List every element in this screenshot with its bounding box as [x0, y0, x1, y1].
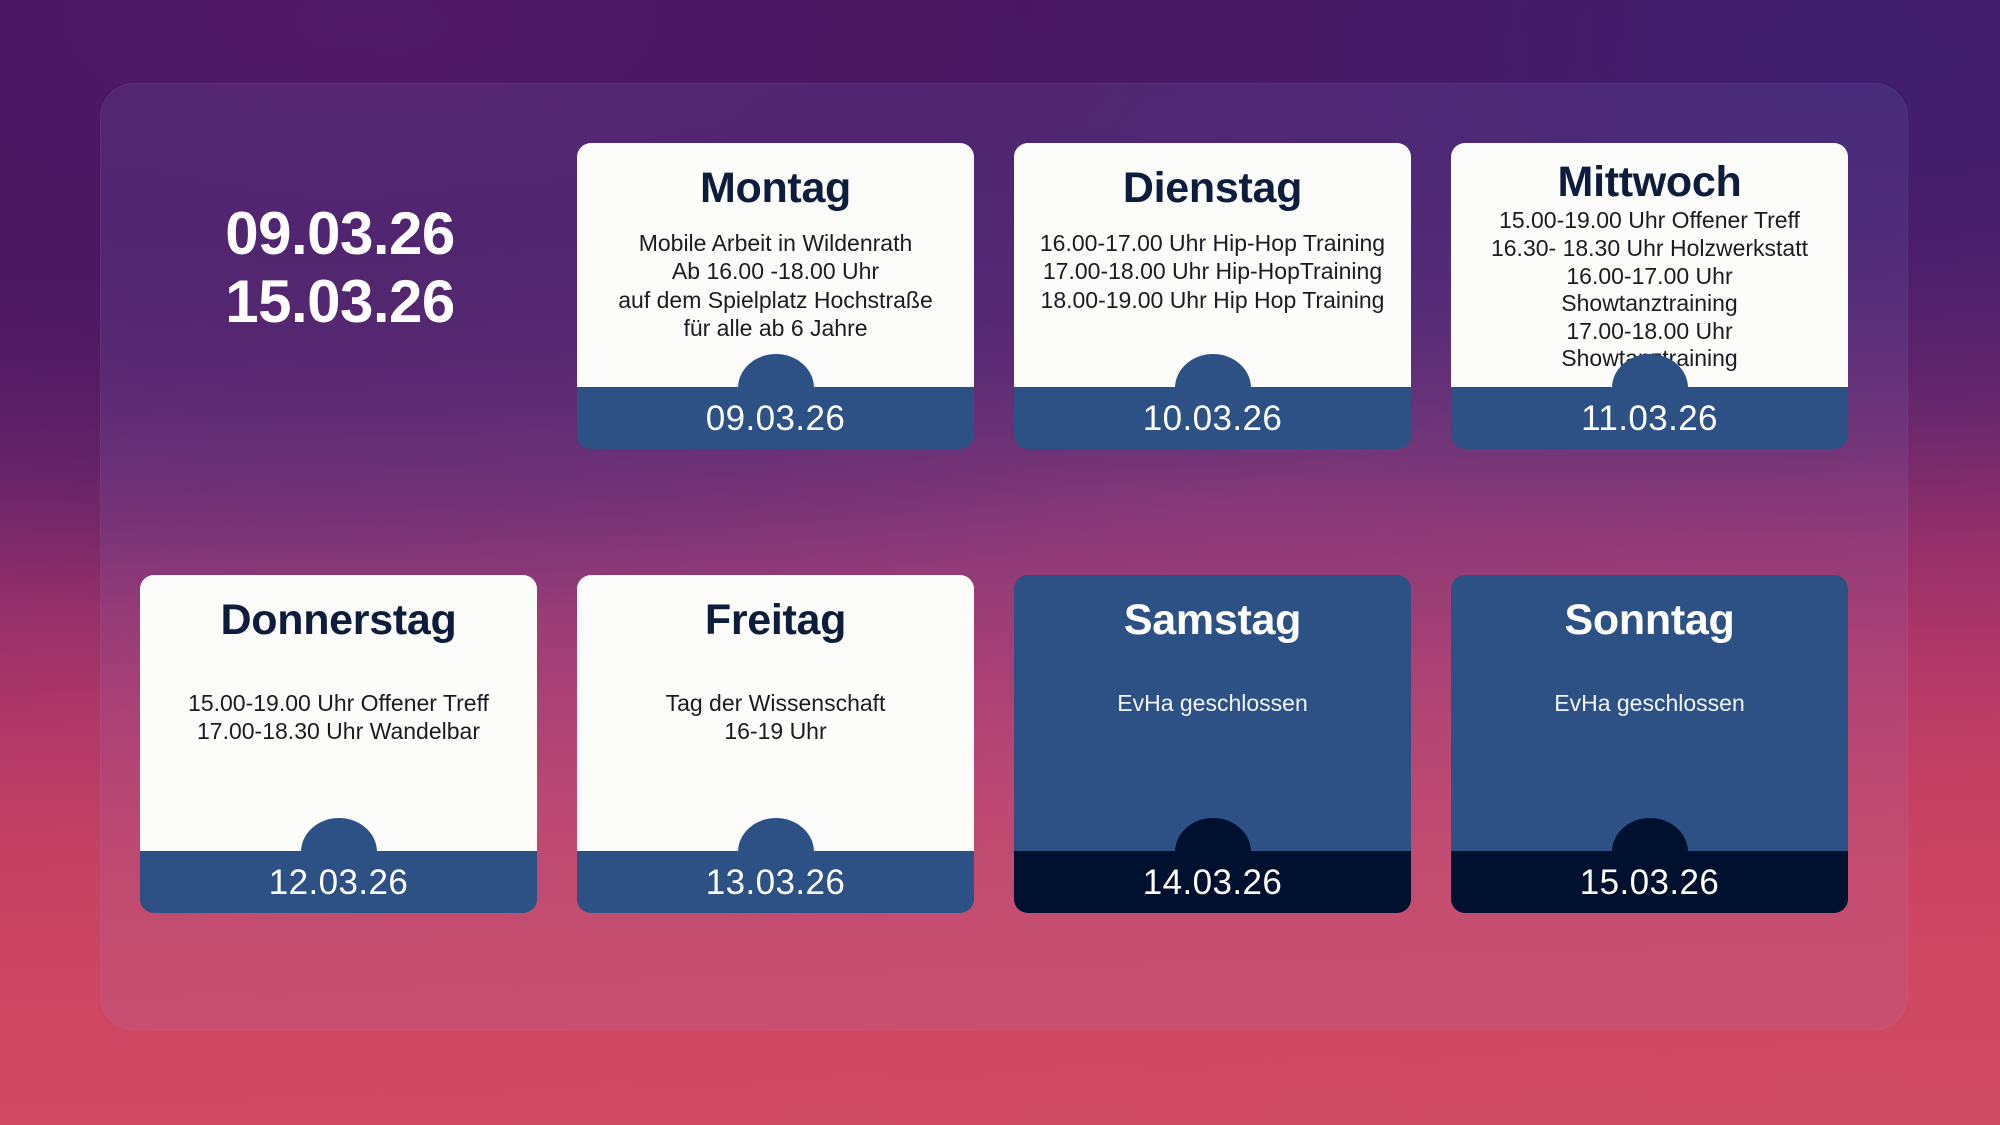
day-card-footer: 12.03.26 [140, 851, 537, 913]
day-activity-line: 16.00-17.00 Uhr [1465, 263, 1834, 291]
day-activity-line: auf dem Spielplatz Hochstraße [591, 286, 960, 314]
day-title: Samstag [1028, 597, 1397, 643]
day-activity-line: 17.00-18.00 Uhr [1465, 318, 1834, 346]
day-title: Dienstag [1028, 165, 1397, 211]
day-card-body: MontagMobile Arbeit in WildenrathAb 16.0… [577, 143, 974, 387]
day-date: 11.03.26 [1581, 401, 1718, 436]
day-card-montag[interactable]: MontagMobile Arbeit in WildenrathAb 16.0… [577, 143, 974, 449]
day-title: Sonntag [1465, 597, 1834, 643]
day-activity-line: 16-19 Uhr [591, 717, 960, 745]
day-card-dienstag[interactable]: Dienstag16.00-17.00 Uhr Hip-Hop Training… [1014, 143, 1411, 449]
day-date: 15.03.26 [1580, 865, 1719, 900]
day-activity-line: 17.00-18.00 Uhr Hip-HopTraining [1028, 257, 1397, 285]
day-activity-line: 18.00-19.00 Uhr Hip Hop Training [1028, 286, 1397, 314]
day-activity-line: 16.00-17.00 Uhr Hip-Hop Training [1028, 229, 1397, 257]
day-activity-list: 15.00-19.00 Uhr Offener Treff17.00-18.30… [154, 689, 523, 745]
day-activity-list: Mobile Arbeit in WildenrathAb 16.00 -18.… [591, 229, 960, 341]
day-card-body: Dienstag16.00-17.00 Uhr Hip-Hop Training… [1014, 143, 1411, 387]
day-date: 09.03.26 [706, 401, 845, 436]
day-title: Freitag [591, 597, 960, 643]
day-activity-line: Tag der Wissenschaft [591, 689, 960, 717]
day-card-body: FreitagTag der Wissenschaft16-19 Uhr [577, 575, 974, 851]
day-card-body: SonntagEvHa geschlossen [1451, 575, 1848, 851]
day-card-samstag[interactable]: SamstagEvHa geschlossen14.03.26 [1014, 575, 1411, 913]
day-card-sonntag[interactable]: SonntagEvHa geschlossen15.03.26 [1451, 575, 1848, 913]
day-activity-line: Ab 16.00 -18.00 Uhr [591, 257, 960, 285]
day-activity-line: Mobile Arbeit in Wildenrath [591, 229, 960, 257]
day-title: Montag [591, 165, 960, 211]
day-activity-line: 15.00-19.00 Uhr Offener Treff [1465, 207, 1834, 235]
day-activity-list: 15.00-19.00 Uhr Offener Treff16.30- 18.3… [1465, 207, 1834, 373]
day-date: 13.03.26 [706, 865, 845, 900]
day-title: Donnerstag [154, 597, 523, 643]
day-activity-line: 15.00-19.00 Uhr Offener Treff [154, 689, 523, 717]
day-activity-list: EvHa geschlossen [1465, 689, 1834, 717]
day-activity-line: 16.30- 18.30 Uhr Holzwerkstatt [1465, 235, 1834, 263]
day-date: 14.03.26 [1143, 865, 1282, 900]
day-activity-line: für alle ab 6 Jahre [591, 314, 960, 342]
day-activity-line: EvHa geschlossen [1465, 689, 1834, 717]
week-grid: MontagMobile Arbeit in WildenrathAb 16.0… [140, 143, 1870, 983]
day-activity-list: Tag der Wissenschaft16-19 Uhr [591, 689, 960, 745]
day-date: 10.03.26 [1143, 401, 1282, 436]
day-card-body: SamstagEvHa geschlossen [1014, 575, 1411, 851]
day-activity-list: 16.00-17.00 Uhr Hip-Hop Training17.00-18… [1028, 229, 1397, 313]
day-card-footer: 09.03.26 [577, 387, 974, 449]
day-card-body: Mittwoch15.00-19.00 Uhr Offener Treff16.… [1451, 143, 1848, 387]
day-card-freitag[interactable]: FreitagTag der Wissenschaft16-19 Uhr13.0… [577, 575, 974, 913]
day-activity-line: 17.00-18.30 Uhr Wandelbar [154, 717, 523, 745]
day-card-footer: 14.03.26 [1014, 851, 1411, 913]
day-activity-list: EvHa geschlossen [1028, 689, 1397, 717]
day-card-footer: 11.03.26 [1451, 387, 1848, 449]
day-card-mittwoch[interactable]: Mittwoch15.00-19.00 Uhr Offener Treff16.… [1451, 143, 1848, 449]
day-activity-line: EvHa geschlossen [1028, 689, 1397, 717]
day-card-footer: 10.03.26 [1014, 387, 1411, 449]
day-date: 12.03.26 [269, 865, 408, 900]
day-card-donnerstag[interactable]: Donnerstag15.00-19.00 Uhr Offener Treff1… [140, 575, 537, 913]
day-card-body: Donnerstag15.00-19.00 Uhr Offener Treff1… [140, 575, 537, 851]
day-card-footer: 13.03.26 [577, 851, 974, 913]
day-title: Mittwoch [1465, 159, 1834, 205]
day-card-footer: 15.03.26 [1451, 851, 1848, 913]
day-activity-line: Showtanztraining [1465, 290, 1834, 318]
